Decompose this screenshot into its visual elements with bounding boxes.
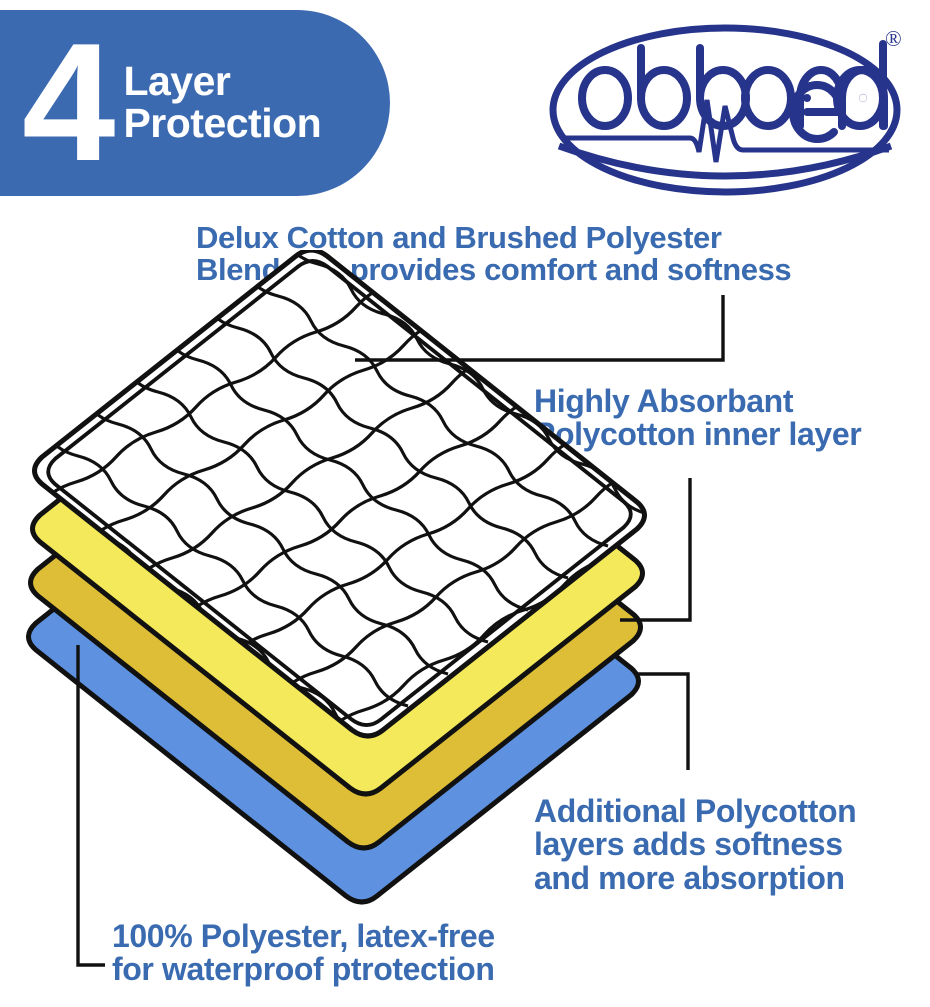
badge-label-line1: Layer bbox=[123, 61, 321, 103]
leader-line-extra-layers bbox=[638, 674, 688, 770]
obbomed-logo: ® bbox=[545, 20, 920, 198]
registered-mark: ® bbox=[885, 26, 902, 51]
infographic-canvas: 4 Layer Protection bbox=[0, 0, 930, 1007]
badge-number: 4 bbox=[22, 37, 109, 168]
layer-count-badge: 4 Layer Protection bbox=[0, 10, 390, 196]
layer-stack-illustration bbox=[0, 250, 930, 1007]
badge-label: Layer Protection bbox=[123, 61, 321, 145]
badge-label-line2: Protection bbox=[123, 103, 321, 145]
